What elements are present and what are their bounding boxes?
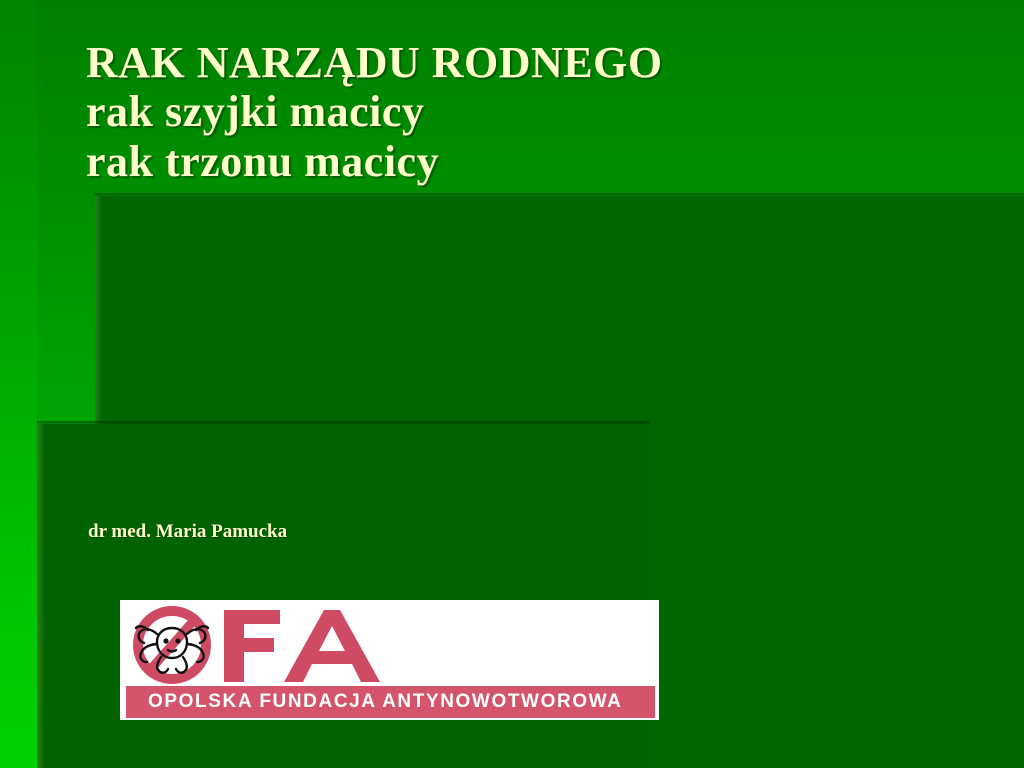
title-line-secondary: rak szyjki macicy (86, 87, 946, 136)
left-green-strip (0, 0, 37, 768)
slide-title: RAK NARZĄDU RODNEGO rak szyjki macicy ra… (86, 38, 946, 186)
title-line-primary: RAK NARZĄDU RODNEGO (86, 38, 946, 87)
logo-banner-text: OPOLSKA FUNDACJA ANTYNOWOTWOROWA (126, 691, 622, 713)
logo-letter-f (224, 610, 280, 682)
lower-panel-bevel (37, 424, 45, 768)
presentation-slide: RAK NARZĄDU RODNEGO rak szyjki macicy ra… (0, 0, 1024, 768)
ofa-logo-mark (128, 604, 418, 686)
logo-letter-a (284, 610, 380, 682)
author-name: dr med. Maria Pamucka (88, 521, 287, 543)
foundation-logo: OPOLSKA FUNDACJA ANTYNOWOTWOROWA (120, 600, 659, 720)
title-line-tertiary: rak trzonu macicy (86, 137, 946, 186)
logo-banner: OPOLSKA FUNDACJA ANTYNOWOTWOROWA (126, 686, 655, 718)
